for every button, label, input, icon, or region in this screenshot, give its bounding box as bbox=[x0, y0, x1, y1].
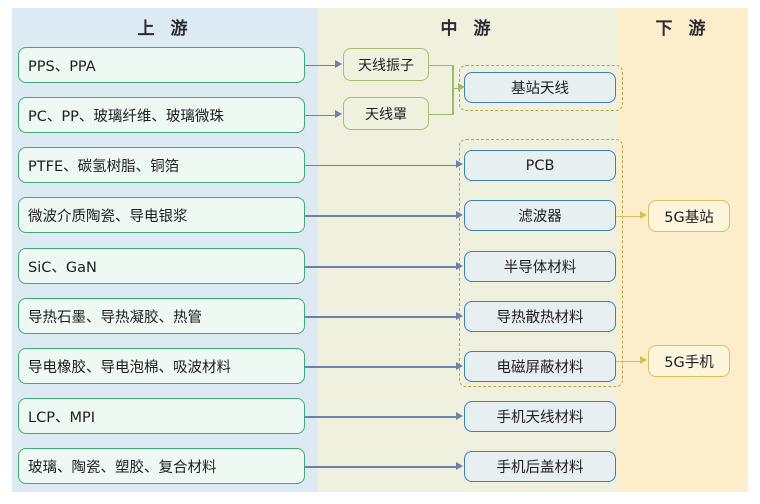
midstream-item-0[interactable]: 基站天线 bbox=[464, 72, 616, 103]
upstream-item-5[interactable]: 导热石墨、导热凝胶、热管 bbox=[18, 298, 305, 334]
upstream-item-5-label: 导热石墨、导热凝胶、热管 bbox=[28, 306, 202, 327]
connector-antenna-bottom bbox=[429, 114, 453, 116]
connector-upstream-0-arrowhead bbox=[335, 60, 342, 68]
diagram-canvas: 上 游 中 游 下 游 PPS、PPA PC、PP、玻璃纤维、玻璃微珠 PTFE… bbox=[0, 0, 760, 504]
midstream-item-4[interactable]: 导热散热材料 bbox=[464, 301, 616, 332]
connector-upstream-7-arrowhead bbox=[456, 412, 463, 420]
upstream-item-7-label: LCP、MPI bbox=[28, 406, 95, 427]
column-title-midstream: 中 游 bbox=[318, 14, 618, 39]
upstream-item-2-label: PTFE、碳氢树脂、铜箔 bbox=[28, 155, 179, 176]
upstream-item-4[interactable]: SiC、GaN bbox=[18, 248, 305, 284]
antenna-part-1-label: 天线罩 bbox=[365, 104, 407, 124]
connector-upstream-6 bbox=[305, 366, 457, 368]
midstream-item-5-label: 电磁屏蔽材料 bbox=[497, 356, 584, 377]
upstream-item-4-label: SiC、GaN bbox=[28, 256, 97, 277]
midstream-item-7-label: 手机后盖材料 bbox=[497, 456, 584, 477]
downstream-item-0-label: 5G基站 bbox=[664, 206, 713, 227]
midstream-item-3[interactable]: 半导体材料 bbox=[464, 251, 616, 282]
midstream-item-6-label: 手机天线材料 bbox=[497, 406, 584, 427]
midstream-item-4-label: 导热散热材料 bbox=[497, 306, 584, 327]
upstream-item-3[interactable]: 微波介质陶瓷、导电银浆 bbox=[18, 197, 305, 233]
column-panel-downstream bbox=[618, 8, 748, 492]
connector-antenna-top bbox=[429, 65, 453, 67]
downstream-item-1[interactable]: 5G手机 bbox=[648, 345, 730, 377]
upstream-item-7[interactable]: LCP、MPI bbox=[18, 398, 305, 434]
antenna-part-0-label: 天线振子 bbox=[358, 55, 414, 75]
upstream-item-6-label: 导电橡胶、导电泡棉、吸波材料 bbox=[28, 356, 231, 377]
antenna-part-1[interactable]: 天线罩 bbox=[343, 97, 429, 130]
midstream-item-1-label: PCB bbox=[526, 158, 555, 174]
connector-upstream-7 bbox=[305, 416, 457, 418]
upstream-item-0[interactable]: PPS、PPA bbox=[18, 47, 305, 83]
midstream-item-5[interactable]: 电磁屏蔽材料 bbox=[464, 351, 616, 382]
upstream-item-0-label: PPS、PPA bbox=[28, 55, 96, 76]
connector-downstream-0-arrowhead bbox=[640, 211, 647, 219]
connector-upstream-8-arrowhead bbox=[456, 462, 463, 470]
connector-upstream-2-arrowhead bbox=[456, 160, 463, 168]
midstream-item-2[interactable]: 滤波器 bbox=[464, 200, 616, 231]
connector-downstream-0 bbox=[616, 216, 641, 218]
midstream-item-0-label: 基站天线 bbox=[511, 77, 569, 98]
connector-upstream-5 bbox=[305, 316, 457, 318]
downstream-item-1-label: 5G手机 bbox=[664, 351, 713, 372]
antenna-part-0[interactable]: 天线振子 bbox=[343, 48, 429, 81]
midstream-item-2-label: 滤波器 bbox=[518, 205, 562, 226]
connector-upstream-4-arrowhead bbox=[456, 262, 463, 270]
column-title-downstream: 下 游 bbox=[618, 14, 748, 39]
connector-upstream-1 bbox=[305, 115, 335, 117]
connector-upstream-5-arrowhead bbox=[456, 312, 463, 320]
connector-upstream-8 bbox=[305, 466, 457, 468]
connector-upstream-6-arrowhead bbox=[456, 362, 463, 370]
midstream-item-7[interactable]: 手机后盖材料 bbox=[464, 451, 616, 482]
connector-antenna-arrowhead bbox=[458, 83, 465, 91]
connector-upstream-3-arrowhead bbox=[456, 211, 463, 219]
upstream-item-3-label: 微波介质陶瓷、导电银浆 bbox=[28, 205, 188, 226]
midstream-item-3-label: 半导体材料 bbox=[504, 256, 577, 277]
connector-antenna-spine bbox=[452, 65, 454, 115]
upstream-item-2[interactable]: PTFE、碳氢树脂、铜箔 bbox=[18, 147, 305, 183]
connector-upstream-2 bbox=[305, 165, 457, 167]
upstream-item-1-label: PC、PP、玻璃纤维、玻璃微珠 bbox=[28, 105, 224, 126]
upstream-item-6[interactable]: 导电橡胶、导电泡棉、吸波材料 bbox=[18, 348, 305, 384]
connector-upstream-3 bbox=[305, 215, 457, 217]
midstream-item-1[interactable]: PCB bbox=[464, 150, 616, 181]
connector-upstream-4 bbox=[305, 266, 457, 268]
connector-downstream-1 bbox=[616, 361, 641, 363]
connector-upstream-1-arrowhead bbox=[335, 110, 342, 118]
upstream-item-8[interactable]: 玻璃、陶瓷、塑胶、复合材料 bbox=[18, 448, 305, 484]
column-title-upstream: 上 游 bbox=[12, 14, 318, 39]
upstream-item-8-label: 玻璃、陶瓷、塑胶、复合材料 bbox=[28, 456, 217, 477]
connector-downstream-1-arrowhead bbox=[640, 356, 647, 364]
downstream-item-0[interactable]: 5G基站 bbox=[648, 200, 730, 232]
midstream-item-6[interactable]: 手机天线材料 bbox=[464, 401, 616, 432]
upstream-item-1[interactable]: PC、PP、玻璃纤维、玻璃微珠 bbox=[18, 97, 305, 133]
connector-upstream-0 bbox=[305, 65, 335, 67]
